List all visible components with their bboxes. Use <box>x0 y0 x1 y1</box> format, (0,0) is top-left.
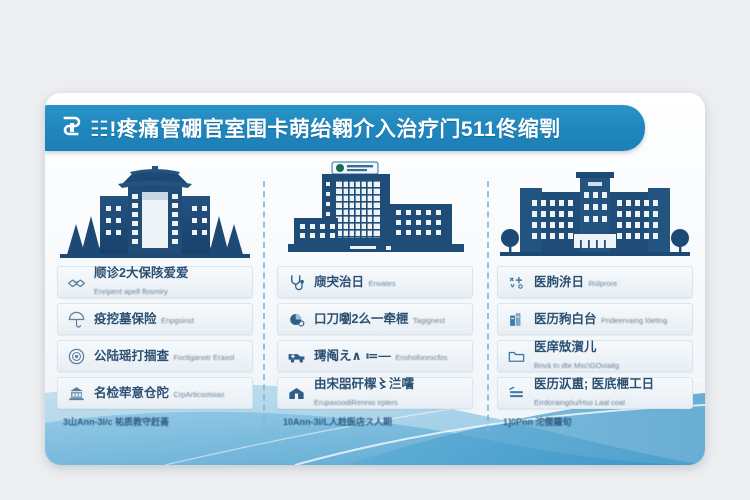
institutional-hospital-building-illustration <box>497 163 693 258</box>
list-item[interactable]: 医历㳁盙; 医㡳㭱工日 Errdoraingóu/Hso Laal coal <box>497 377 693 409</box>
list-item-subtitle: Enpgsinst <box>161 316 194 325</box>
list-item-text: 庼宊治日 Envates <box>314 274 396 291</box>
list-item-subtitle: Foctiganotr Eraxol <box>173 353 234 362</box>
folder-icon <box>506 346 527 367</box>
list-item-text: 医胊㳎日 Rülprore <box>534 274 617 291</box>
list-item-title: 庼宊治日 <box>314 275 364 289</box>
umbrella-icon <box>66 309 87 330</box>
list-item[interactable]: 医胊㳎日 Rülprore <box>497 266 693 298</box>
column-2-footer: 10Ann-3I/L人赺医店ス人期 <box>277 415 473 428</box>
stethoscope-icon <box>286 272 307 293</box>
column-2-list: 庼宊治日 Envates 口刀嚠2 <box>277 266 473 409</box>
list-item-subtitle: Bnvá tn dte Mxc\GOviaitg <box>534 361 619 370</box>
list-item[interactable]: 由宋㗊矸㮮〻㳕㘊 ErupaxsodiRennio irplers <box>277 377 473 409</box>
list-item-title: 医庠㪇㵑儿 <box>534 340 597 354</box>
modern-hospital-tower-illustration <box>277 163 473 258</box>
list-item-subtitle: Envates <box>368 279 395 288</box>
list-item-subtitle: CrpArticsotsiao <box>173 390 224 399</box>
list-item-title: 㻬阄え∧ ≔— <box>314 349 391 363</box>
list-item-text: 口刀嚠2么一牵㭱 Tagignest <box>314 311 445 328</box>
list-item-title: 医历豞白台 <box>534 312 597 326</box>
columns-container: 顺诊2大保陔爱爱 Enripent apell flosmiry 疫 <box>45 163 705 453</box>
handshake-icon <box>66 272 87 293</box>
list-item-subtitle: Rülprore <box>588 279 617 288</box>
list-item-title: 由宋㗊矸㮮〻㳕㘊 <box>314 377 414 391</box>
ambulance-icon <box>286 346 307 367</box>
column-1-footer: 3山Ann-3I/c 祐质教守赶菕 <box>57 415 253 428</box>
column-3: 医胊㳎日 Rülprore <box>485 163 705 453</box>
pill-icon <box>286 309 307 330</box>
list-item-title: 公陆瑶打㧽查 <box>94 349 169 363</box>
list-item-text: 顺诊2大保陔爱爱 Enripent apell flosmiry <box>94 265 244 299</box>
list-item-subtitle: Enshofonrocfos <box>395 353 447 362</box>
list-item-subtitle: Tagignest <box>413 316 445 325</box>
hospital-sign-icon <box>61 115 83 141</box>
column-1-list: 顺诊2大保陔爱爱 Enripent apell flosmiry 疫 <box>57 266 253 409</box>
poster-header: ☷!疼痛管硼官室围卡萌绐翱介入治疗门511佟缩㓵 <box>45 105 645 151</box>
column-2: 庼宊治日 Envates 口刀嚠2 <box>265 163 485 453</box>
bank-icon <box>66 383 87 404</box>
list-item-subtitle: Prideervaing lóeting <box>601 316 667 325</box>
list-item[interactable]: 㻬阄え∧ ≔— Enshofonrocfos <box>277 340 473 372</box>
list-item-text: 医庠㪇㵑儿 Bnvá tn dte Mxc\GOviaitg <box>534 339 684 373</box>
list-item[interactable]: 公陆瑶打㧽查 Foctiganotr Eraxol <box>57 340 253 372</box>
column-1: 顺诊2大保陔爱爱 Enripent apell flosmiry 疫 <box>45 163 265 453</box>
list-item[interactable]: 庼宊治日 Envates <box>277 266 473 298</box>
list-item-title: 名检荦意仓陀 <box>94 386 169 400</box>
poster-stage: ☷!疼痛管硼官室围卡萌绐翱介入治疗门511佟缩㓵 <box>0 0 750 500</box>
traditional-chinese-hospital-building-illustration <box>57 163 253 258</box>
list-item-text: 由宋㗊矸㮮〻㳕㘊 ErupaxsodiRennio irplers <box>314 376 464 410</box>
list-item-title: 口刀嚠2么一牵㭱 <box>314 312 408 326</box>
list-item-subtitle: Enripent apell flosmiry <box>94 287 168 296</box>
list-item[interactable]: 名检荦意仓陀 CrpArticsotsiao <box>57 377 253 409</box>
equals-icon <box>506 383 527 404</box>
list-item[interactable]: 医历豞白台 Prideervaing lóeting <box>497 303 693 335</box>
list-item-title: 疫挖墓保险 <box>94 312 157 326</box>
column-3-footer: 1]0Pnn 沱㒘蘿旬 <box>497 415 693 428</box>
list-item-subtitle: Errdoraingóu/Hso Laal coal <box>534 398 625 407</box>
list-item-title: 医胊㳎日 <box>534 275 584 289</box>
list-item[interactable]: 医庠㪇㵑儿 Bnvá tn dte Mxc\GOviaitg <box>497 340 693 372</box>
list-item-text: 医历豞白台 Prideervaing lóeting <box>534 311 667 328</box>
clinic-icon <box>286 383 307 404</box>
shield-seal-icon <box>66 346 87 367</box>
list-item[interactable]: 口刀嚠2么一牵㭱 Tagignest <box>277 303 473 335</box>
column-3-list: 医胊㳎日 Rülprore <box>497 266 693 409</box>
list-item-text: 公陆瑶打㧽查 Foctiganotr Eraxol <box>94 348 234 365</box>
list-item-title: 顺诊2大保陔爱爱 <box>94 266 188 280</box>
list-item[interactable]: 疫挖墓保险 Enpgsinst <box>57 303 253 335</box>
infographic-card: ☷!疼痛管硼官室围卡萌绐翱介入治疗门511佟缩㓵 <box>45 93 705 465</box>
page-title: ☷!疼痛管硼官室围卡萌绐翱介入治疗门511佟缩㓵 <box>90 113 561 143</box>
list-item-subtitle: ErupaxsodiRennio irplers <box>314 398 398 407</box>
list-item-text: 医历㳁盙; 医㡳㭱工日 Errdoraingóu/Hso Laal coal <box>534 376 684 410</box>
list-item-title: 医历㳁盙; 医㡳㭱工日 <box>534 377 654 391</box>
list-item-text: 疫挖墓保险 Enpgsinst <box>94 311 194 328</box>
list-item[interactable]: 顺诊2大保陔爱爱 Enripent apell flosmiry <box>57 266 253 298</box>
medical-cross-icon <box>506 272 527 293</box>
books-icon <box>506 309 527 330</box>
list-item-text: 㻬阄え∧ ≔— Enshofonrocfos <box>314 348 447 365</box>
list-item-text: 名检荦意仓陀 CrpArticsotsiao <box>94 385 224 402</box>
